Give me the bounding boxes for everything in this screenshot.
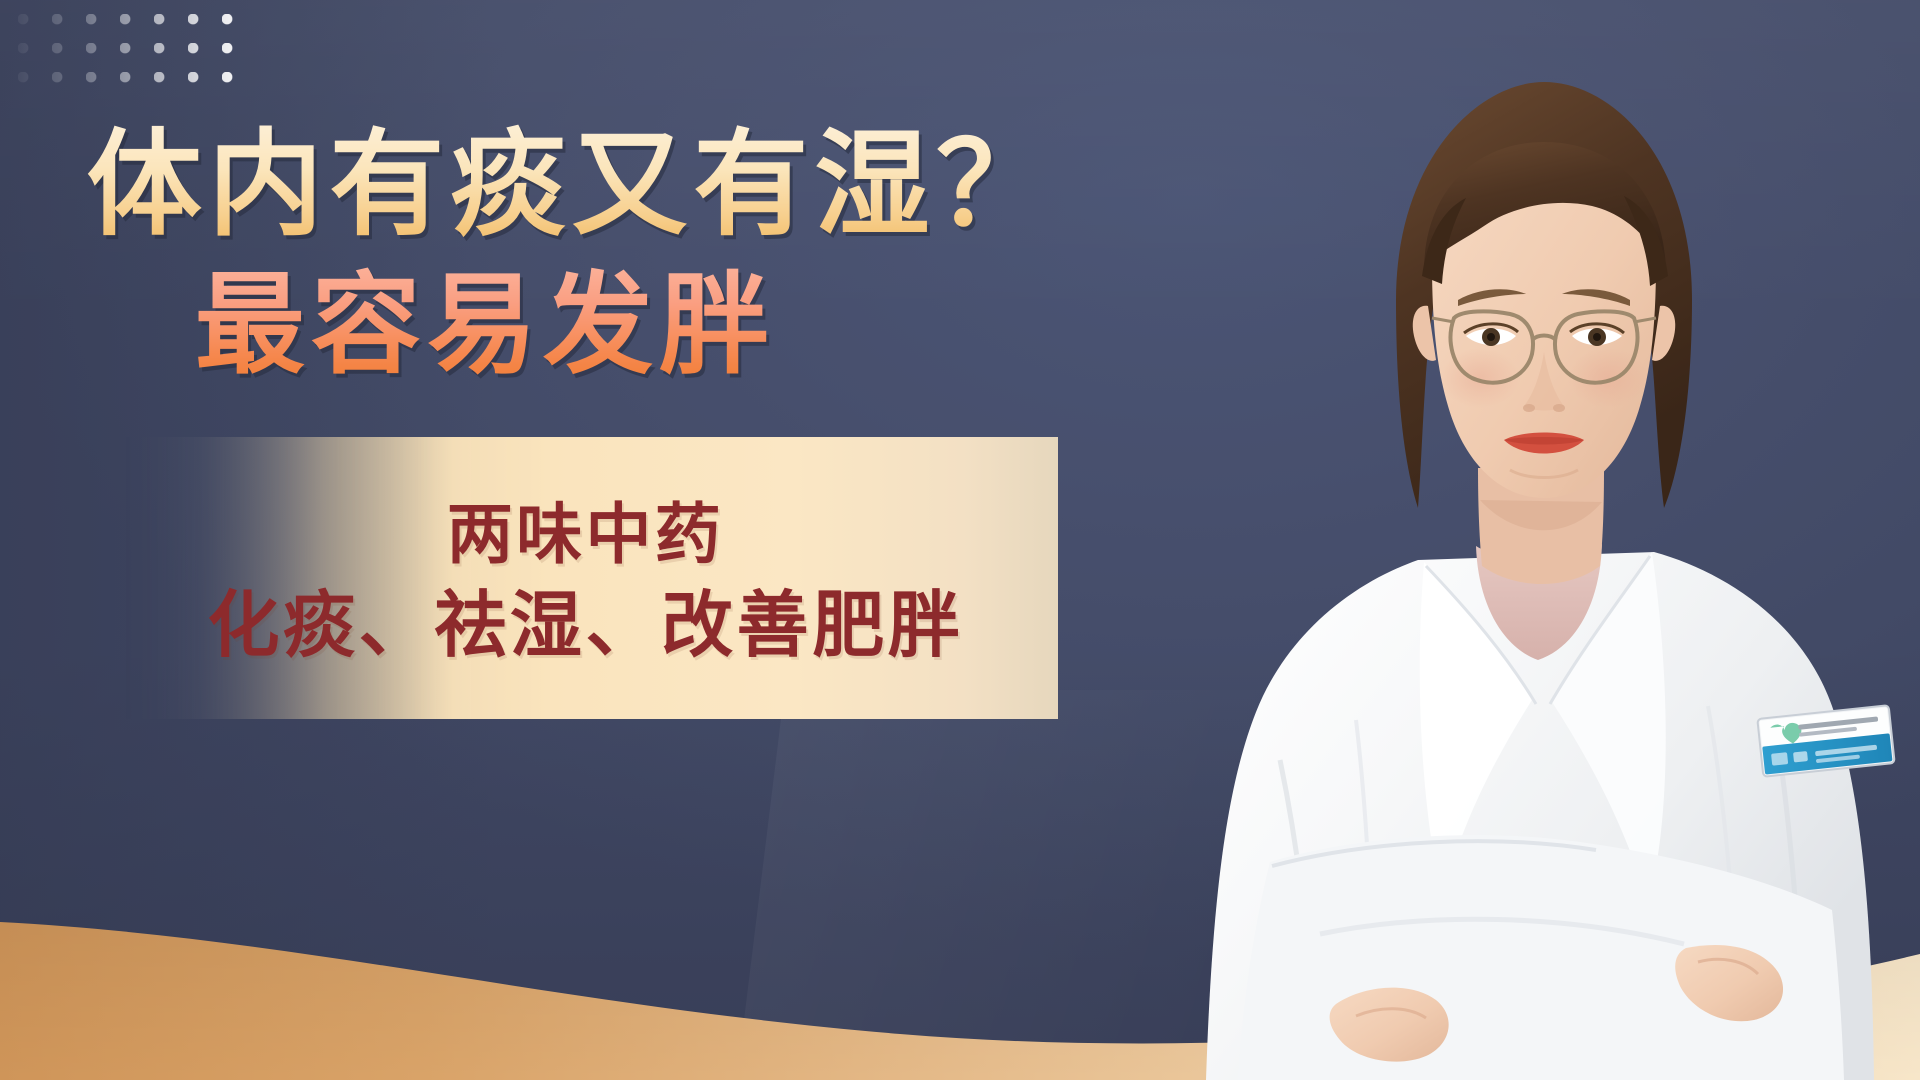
headline-block: 体内有痰又有湿？ 最容易发胖	[0, 118, 1120, 397]
presenter-photo	[1160, 0, 1920, 1080]
banner-line-2: 化痰、祛湿、改善肥胖	[207, 583, 963, 668]
highlight-banner: 两味中药 化痰、祛湿、改善肥胖	[113, 437, 1058, 719]
banner-line-1: 两味中药	[447, 496, 724, 574]
name-badge	[1757, 705, 1894, 776]
dot-grid-icon	[18, 14, 248, 94]
headline-line-2: 最容易发胖	[0, 254, 1120, 397]
headline-line-1: 体内有痰又有湿？	[0, 118, 1120, 254]
poster-canvas: 体内有痰又有湿？ 最容易发胖 两味中药 化痰、祛湿、改善肥胖	[0, 0, 1920, 1080]
